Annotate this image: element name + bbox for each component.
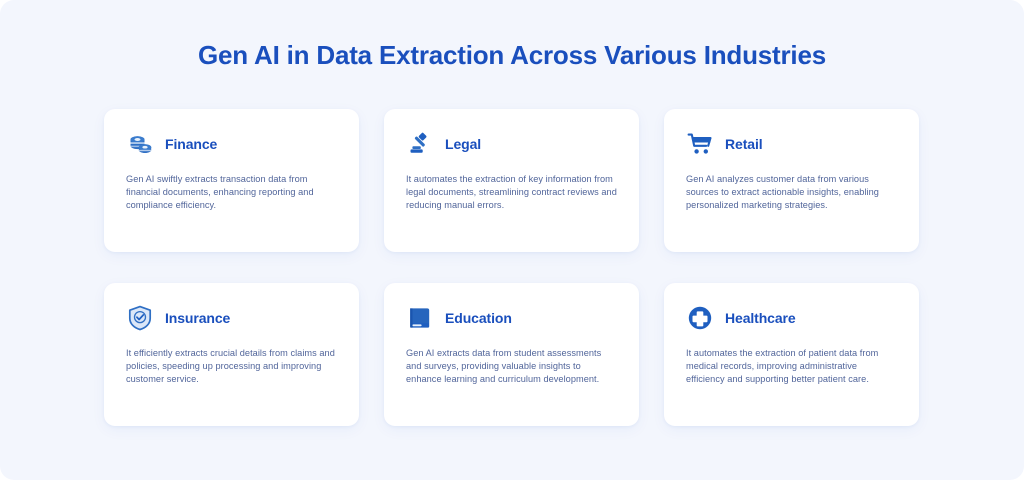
medical-cross-circle-icon <box>686 304 714 332</box>
card-title: Retail <box>725 136 763 152</box>
card-description: It automates the extraction of key infor… <box>406 173 617 212</box>
card-description: Gen AI analyzes customer data from vario… <box>686 173 897 212</box>
card-header: Legal <box>406 128 617 160</box>
shopping-cart-icon <box>686 130 714 158</box>
gavel-icon <box>406 130 434 158</box>
industry-card-retail[interactable]: Retail Gen AI analyzes customer data fro… <box>664 109 919 252</box>
card-description: Gen AI swiftly extracts transaction data… <box>126 173 337 212</box>
card-description: It automates the extraction of patient d… <box>686 347 897 386</box>
industry-card-education[interactable]: Education Gen AI extracts data from stud… <box>384 283 639 426</box>
card-title: Healthcare <box>725 310 796 326</box>
industry-card-finance[interactable]: Finance Gen AI swiftly extracts transact… <box>104 109 359 252</box>
infographic-page: Gen AI in Data Extraction Across Various… <box>0 0 1024 480</box>
card-header: Insurance <box>126 302 337 334</box>
card-title: Education <box>445 310 512 326</box>
card-header: Education <box>406 302 617 334</box>
card-title: Legal <box>445 136 481 152</box>
card-title: Finance <box>165 136 217 152</box>
card-title: Insurance <box>165 310 230 326</box>
page-title: Gen AI in Data Extraction Across Various… <box>0 40 1024 71</box>
book-icon <box>406 304 434 332</box>
card-header: Finance <box>126 128 337 160</box>
industry-card-insurance[interactable]: Insurance It efficiently extracts crucia… <box>104 283 359 426</box>
card-header: Retail <box>686 128 897 160</box>
card-description: Gen AI extracts data from student assess… <box>406 347 617 386</box>
shield-check-icon <box>126 304 154 332</box>
industry-card-healthcare[interactable]: Healthcare It automates the extraction o… <box>664 283 919 426</box>
card-description: It efficiently extracts crucial details … <box>126 347 337 386</box>
card-header: Healthcare <box>686 302 897 334</box>
coins-stack-icon <box>126 130 154 158</box>
industry-card-grid: Finance Gen AI swiftly extracts transact… <box>104 109 920 426</box>
industry-card-legal[interactable]: Legal It automates the extraction of key… <box>384 109 639 252</box>
